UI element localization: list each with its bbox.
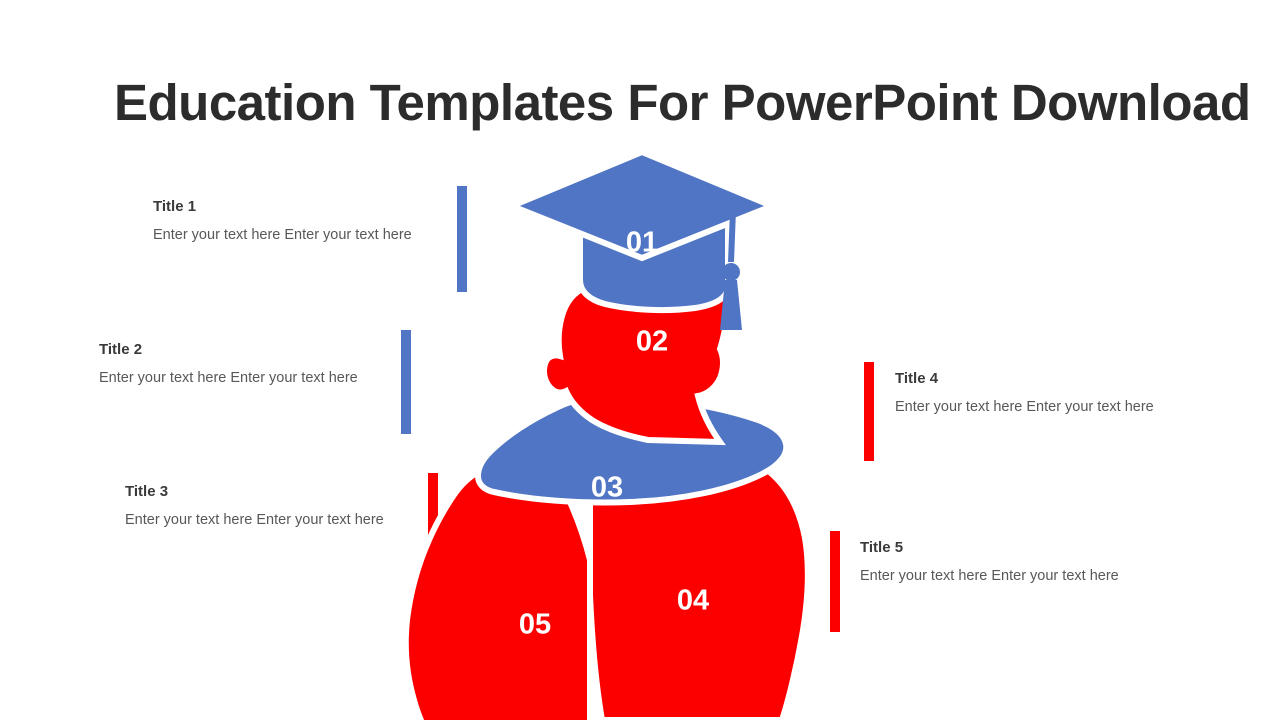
info-block-4: Title 4 Enter your text here Enter your …	[895, 370, 1205, 417]
info-block-1: Title 1 Enter your text here Enter your …	[153, 198, 423, 245]
info-body-3: Enter your text here Enter your text her…	[125, 511, 395, 530]
graduate-silhouette-graphic: 01 02 03 04 05	[390, 140, 850, 720]
page-title: Education Templates For PowerPoint Downl…	[114, 74, 1184, 133]
info-body-5: Enter your text here Enter your text her…	[860, 567, 1180, 586]
segment-number-01: 01	[626, 227, 658, 259]
info-block-3: Title 3 Enter your text here Enter your …	[125, 483, 395, 530]
accent-bar-4	[864, 362, 874, 461]
segment-number-05: 05	[519, 609, 551, 641]
info-block-2: Title 2 Enter your text here Enter your …	[99, 341, 369, 388]
segment-number-04: 04	[677, 585, 709, 617]
info-title-1: Title 1	[153, 198, 423, 216]
segment-number-03: 03	[591, 472, 623, 504]
info-block-5: Title 5 Enter your text here Enter your …	[860, 539, 1180, 586]
info-title-3: Title 3	[125, 483, 395, 501]
info-body-1: Enter your text here Enter your text her…	[153, 226, 423, 245]
slide-canvas: Education Templates For PowerPoint Downl…	[0, 0, 1280, 720]
segment-number-02: 02	[636, 326, 668, 358]
info-title-4: Title 4	[895, 370, 1205, 388]
info-title-2: Title 2	[99, 341, 369, 359]
info-body-2: Enter your text here Enter your text her…	[99, 369, 369, 388]
info-body-4: Enter your text here Enter your text her…	[895, 398, 1205, 417]
tassel-knot-icon	[722, 263, 740, 281]
info-title-5: Title 5	[860, 539, 1180, 557]
